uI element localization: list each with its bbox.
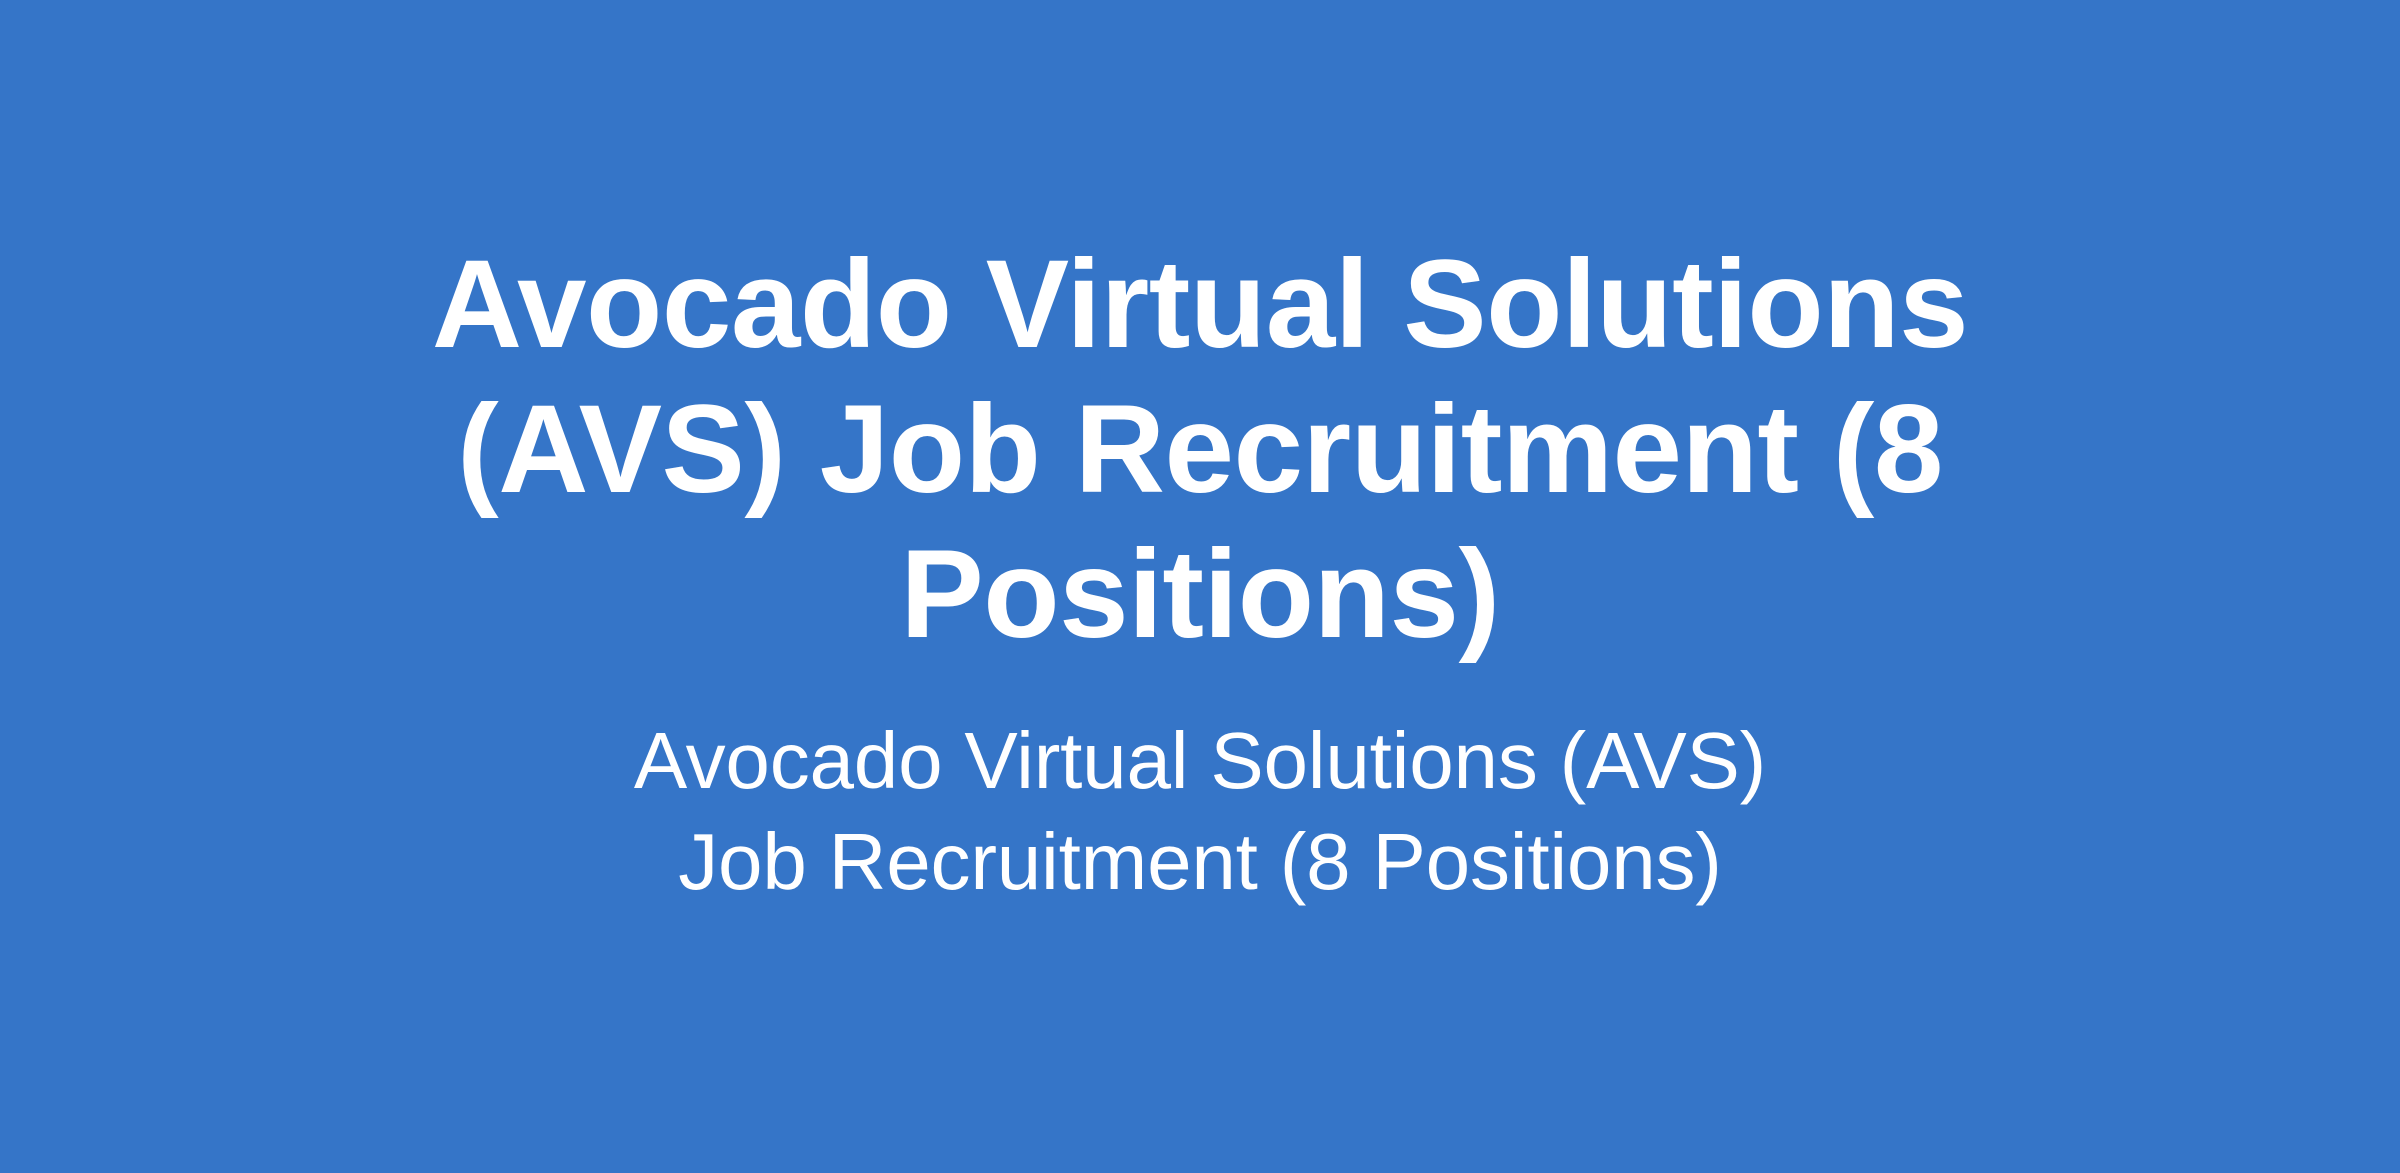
share-card: Avocado Virtual Solutions (AVS) Job Recr…: [0, 0, 2400, 1173]
page-subtitle: Avocado Virtual Solutions (AVS) Job Recr…: [570, 711, 1830, 913]
page-title: Avocado Virtual Solutions (AVS) Job Recr…: [400, 232, 2000, 667]
card-content: Avocado Virtual Solutions (AVS) Job Recr…: [0, 232, 2400, 913]
